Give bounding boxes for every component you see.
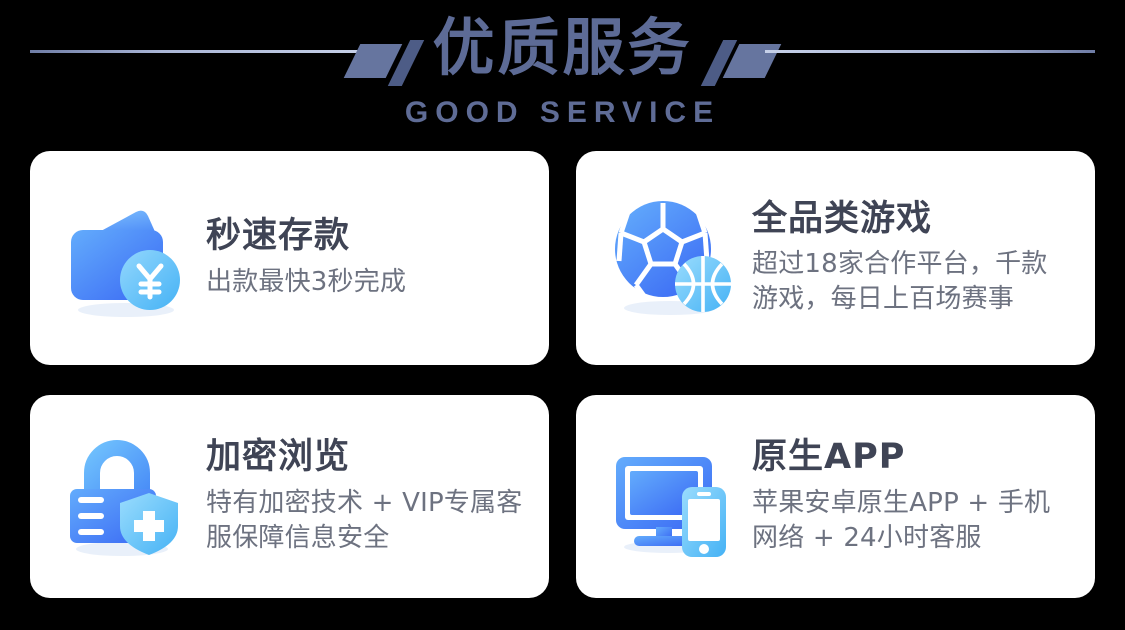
card-subtitle-line: 超过18家合作平台，千款 [752, 247, 1073, 282]
card-subtitle-line: 服保障信息安全 [206, 521, 527, 556]
feature-card-games[interactable]: 全品类游戏 超过18家合作平台，千款 游戏，每日上百场赛事 [576, 151, 1095, 365]
page-title: 优质服务 [0, 12, 1125, 83]
feature-card-deposit[interactable]: 秒速存款 出款最快3秒完成 [30, 151, 549, 365]
card-subtitle-line: 特有加密技术 + VIP专属客 [206, 486, 527, 521]
card-subtitle-line: 出款最快3秒完成 [206, 265, 527, 300]
card-title: 原生APP [752, 437, 1073, 478]
page-subtitle: GOOD SERVICE [0, 96, 1125, 130]
card-subtitle: 出款最快3秒完成 [206, 265, 527, 300]
card-text: 全品类游戏 超过18家合作平台，千款 游戏，每日上百场赛事 [752, 199, 1073, 317]
card-subtitle-line: 游戏，每日上百场赛事 [752, 282, 1073, 317]
card-text: 加密浏览 特有加密技术 + VIP专属客 服保障信息安全 [206, 437, 527, 555]
card-subtitle-line: 苹果安卓原生APP + 手机 [752, 486, 1073, 521]
lock-shield-icon [60, 431, 192, 563]
card-title: 秒速存款 [206, 216, 527, 257]
monitor-phone-icon [606, 431, 738, 563]
card-subtitle: 苹果安卓原生APP + 手机 网络 + 24小时客服 [752, 486, 1073, 556]
card-title: 加密浏览 [206, 437, 527, 478]
promo-banner: 优质服务 GOOD SERVICE [0, 0, 1125, 630]
soccer-basketball-icon [606, 192, 738, 324]
header: 优质服务 GOOD SERVICE [0, 0, 1125, 145]
card-subtitle: 特有加密技术 + VIP专属客 服保障信息安全 [206, 486, 527, 556]
card-subtitle-line: 网络 + 24小时客服 [752, 521, 1073, 556]
wallet-yen-icon [60, 192, 192, 324]
feature-card-grid: 秒速存款 出款最快3秒完成 [30, 151, 1095, 598]
card-text: 秒速存款 出款最快3秒完成 [206, 216, 527, 299]
feature-card-native-app[interactable]: 原生APP 苹果安卓原生APP + 手机 网络 + 24小时客服 [576, 395, 1095, 598]
card-text: 原生APP 苹果安卓原生APP + 手机 网络 + 24小时客服 [752, 437, 1073, 555]
feature-card-encryption[interactable]: 加密浏览 特有加密技术 + VIP专属客 服保障信息安全 [30, 395, 549, 598]
card-subtitle: 超过18家合作平台，千款 游戏，每日上百场赛事 [752, 247, 1073, 317]
card-title: 全品类游戏 [752, 199, 1073, 240]
